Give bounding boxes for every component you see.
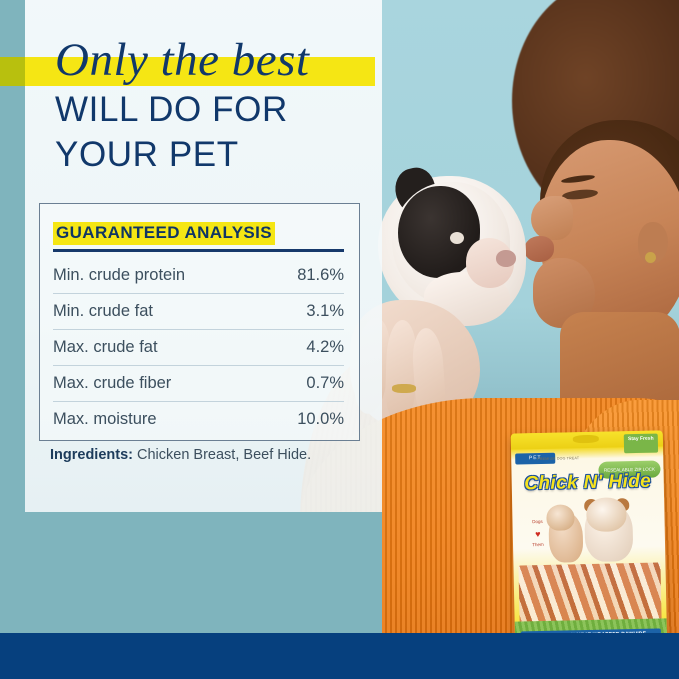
nutrient-value: 10.0% — [268, 402, 344, 438]
nutrient-label: Min. crude protein — [53, 258, 268, 294]
puppy-nose — [496, 250, 516, 267]
package-logo: Chick N' Hide — [519, 467, 656, 500]
nutrient-label: Max. crude fat — [53, 330, 268, 366]
headline-line-2: WILL DO FOR — [55, 88, 385, 131]
stay-fresh-badge: Stay Fresh — [624, 434, 658, 454]
table-row: Max. moisture 10.0% — [53, 402, 344, 438]
nutrient-value: 0.7% — [268, 366, 344, 402]
nutrient-label: Max. crude fiber — [53, 366, 268, 402]
package-dog-small-head — [546, 504, 575, 531]
package-dog-large-head — [586, 497, 627, 532]
nutrient-value: 3.1% — [268, 294, 344, 330]
product-package: Stay Fresh PET PREMIUM DOG TREAT RESEALA… — [511, 430, 668, 655]
ingredients-label: Ingredients: — [50, 447, 133, 463]
headline-script-line: Only the best — [55, 34, 385, 86]
nutrient-value: 4.2% — [268, 330, 344, 366]
product-marketing-image: Only the best WILL DO FOR YOUR PET GUARA… — [0, 0, 679, 679]
nutrient-label: Max. moisture — [53, 402, 268, 438]
ring-icon — [392, 384, 416, 393]
guaranteed-analysis-title: GUARANTEED ANALYSIS — [53, 222, 275, 245]
table-row: Max. crude fat 4.2% — [53, 330, 344, 366]
nutrient-label: Min. crude fat — [53, 294, 268, 330]
table-row: Max. crude fiber 0.7% — [53, 366, 344, 402]
heart-bottom-text: Them — [527, 542, 549, 547]
woman-nose — [531, 196, 573, 240]
nutrient-value: 81.6% — [268, 258, 344, 294]
headline-highlight-bar-overlap — [0, 57, 25, 86]
ingredients-value: Chicken Breast, Beef Hide. — [137, 447, 311, 463]
table-row: Min. crude protein 81.6% — [53, 258, 344, 294]
heart-top-text: Dogs — [526, 519, 548, 524]
bottom-navy-band — [0, 633, 679, 679]
headline-line-3: YOUR PET — [55, 133, 385, 176]
card-title-wrap: GUARANTEED ANALYSIS — [53, 222, 275, 245]
title-rule — [53, 249, 344, 252]
guaranteed-analysis-table: Min. crude protein 81.6% Min. crude fat … — [53, 258, 344, 437]
table-row: Min. crude fat 3.1% — [53, 294, 344, 330]
package-heart-badge: Dogs ♥ Them — [526, 519, 548, 537]
ingredients-line: Ingredients: Chicken Breast, Beef Hide. — [50, 447, 370, 463]
package-brand-name: Chick N' Hide — [524, 471, 651, 496]
woman-lips — [524, 236, 554, 262]
heart-icon: ♥ — [535, 529, 541, 539]
package-micro-text: PREMIUM DOG TREAT — [537, 456, 579, 461]
teal-left-strip — [0, 0, 25, 679]
earring-icon — [645, 252, 656, 263]
headline: Only the best WILL DO FOR YOUR PET — [55, 34, 385, 176]
package-hang-hole — [573, 435, 599, 444]
puppy-eye — [450, 232, 464, 244]
